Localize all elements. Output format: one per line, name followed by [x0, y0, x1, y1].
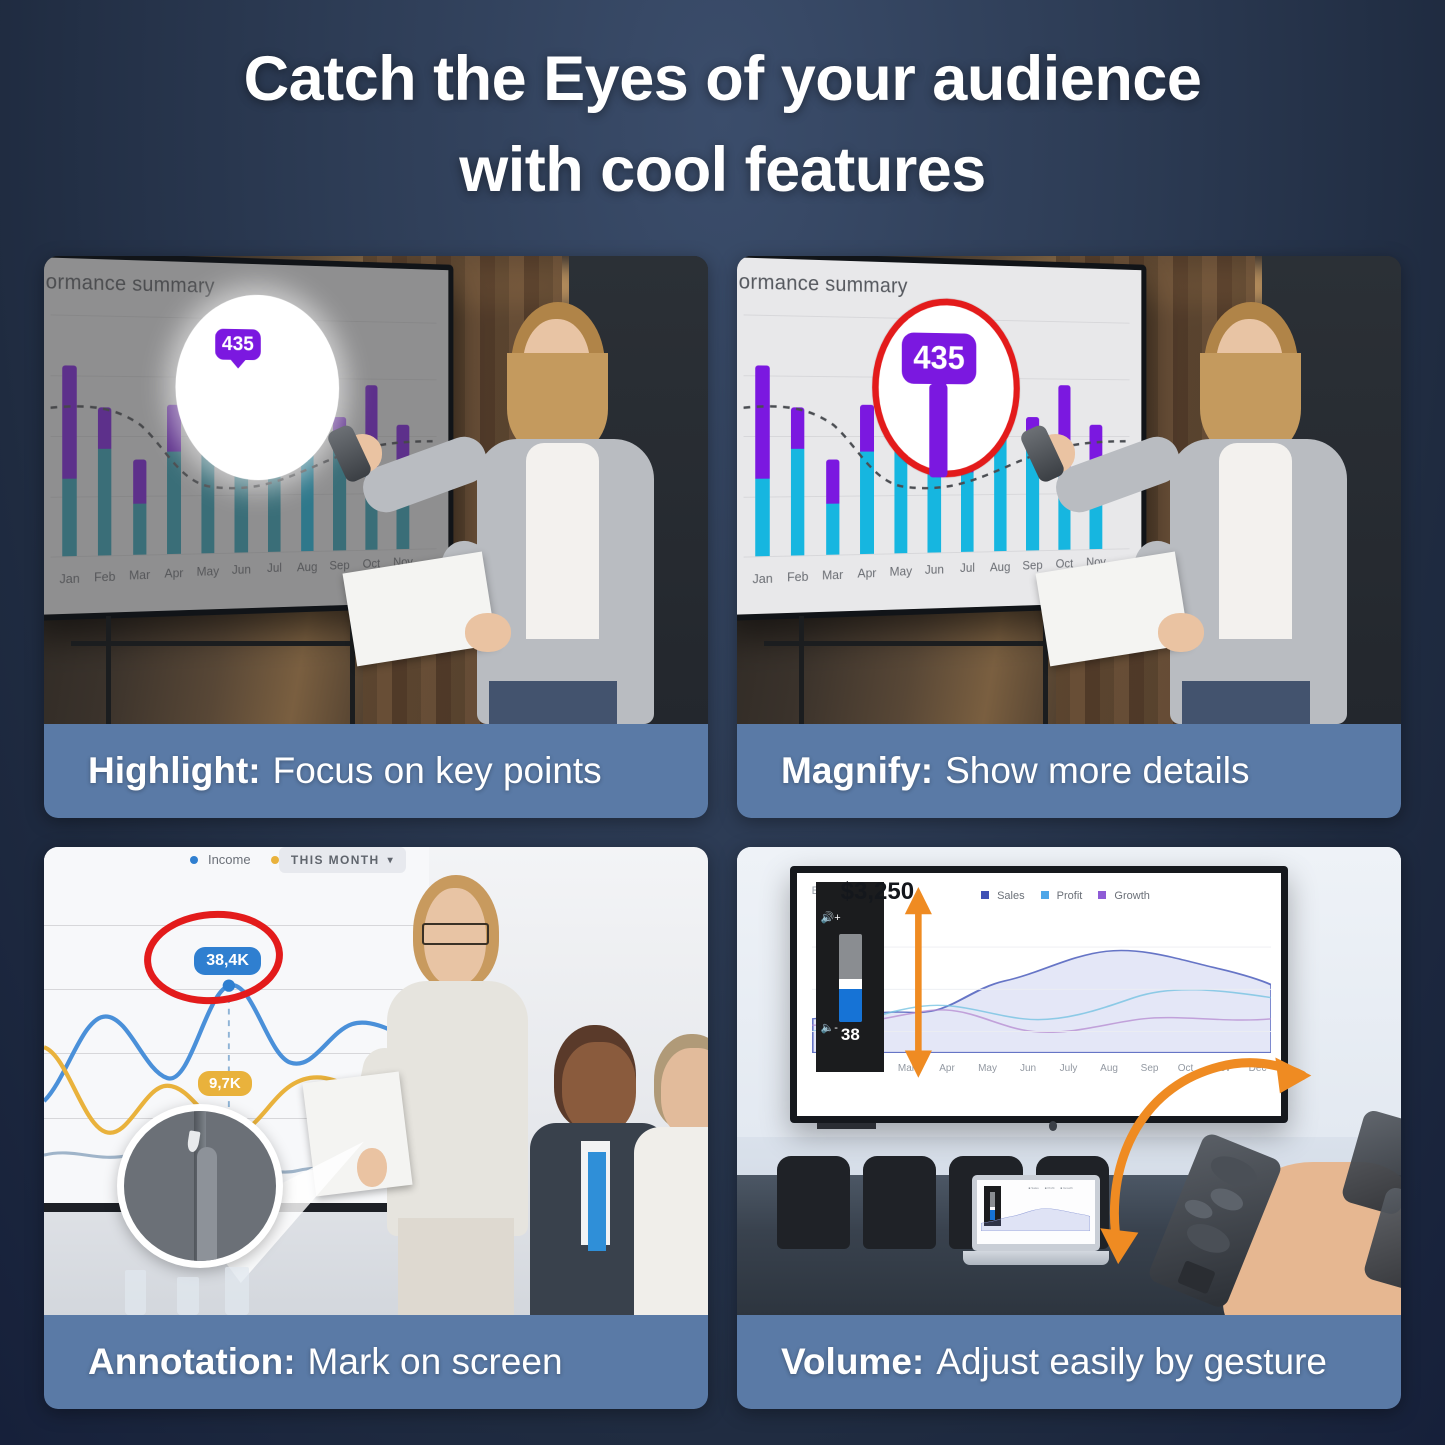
volume-photo: Earnings $3,250 Sales Profit Growth: [737, 847, 1401, 1315]
chart-legend-earnings: Sales Profit Growth: [981, 890, 1150, 902]
volume-caption: Volume: Adjust easily by gesture: [737, 1315, 1401, 1409]
chart-title: ormance summary: [45, 270, 214, 298]
legend-swatch-sales: [981, 891, 989, 899]
volume-level-value: 38: [841, 1025, 860, 1045]
feature-card-annotation[interactable]: Income Outcome THIS MONTH ▾: [44, 847, 708, 1409]
legend-item-sales: Sales: [981, 890, 1025, 902]
feature-card-magnify[interactable]: ormance summary: [737, 256, 1401, 818]
eyeglasses: [422, 923, 489, 945]
legend-item-profit: Profit: [1041, 890, 1083, 902]
magnify-photo: ormance summary: [737, 256, 1401, 724]
legend-label-growth: Growth: [1114, 890, 1149, 902]
table-glassware: [110, 1259, 349, 1315]
bar-jan-2: [755, 366, 769, 557]
feature-card-grid: ormance summary: [44, 256, 1401, 1409]
annotation-caption-title: Annotation:: [88, 1341, 296, 1383]
highlight-spotlight: [175, 293, 339, 481]
presenter-person: [416, 298, 708, 724]
annotation-caption: Annotation: Mark on screen: [44, 1315, 708, 1409]
annotation-photo: Income Outcome THIS MONTH ▾: [44, 847, 708, 1315]
remote-laser-button[interactable]: [1183, 1218, 1234, 1259]
speaker-plus-icon: 🔊+: [821, 911, 841, 924]
presenter-person-2: [1109, 298, 1401, 724]
audience-person-2: [642, 1034, 708, 1315]
headline-line-1: Catch the Eyes of your audience: [244, 44, 1202, 114]
highlight-caption-title: Highlight:: [88, 750, 261, 792]
display-speaker-bar: [817, 1123, 877, 1129]
annotation-caption-text: Mark on screen: [308, 1341, 563, 1383]
volume-slider-knob[interactable]: [839, 979, 862, 989]
bar-apr: [167, 405, 180, 555]
feature-card-volume[interactable]: Earnings $3,250 Sales Profit Growth: [737, 847, 1401, 1409]
speaker-minus-icon: 🔈-: [821, 1021, 838, 1034]
bar-mar: [132, 460, 146, 556]
bar-mar-2: [825, 460, 839, 556]
gesture-arrow-vertical: [899, 885, 938, 1080]
tv-screen: ormance summary: [44, 258, 448, 615]
value-tooltip-magnify: 435: [902, 332, 976, 385]
magnify-caption: Magnify: Show more details: [737, 724, 1401, 818]
page-headline: Catch the Eyes of your audience with coo…: [0, 0, 1445, 217]
legend-swatch-growth: [1098, 891, 1106, 899]
bar-feb-2: [791, 407, 805, 556]
tooltip-outcome-value: 9,7K: [198, 1071, 252, 1096]
remote-usb-receiver: [1177, 1260, 1215, 1294]
remote-down-button[interactable]: [1208, 1184, 1246, 1214]
legend-swatch-profit: [1041, 891, 1049, 899]
hand-with-remote: [1162, 1128, 1401, 1315]
remote-button-zoom-circle: [117, 1104, 283, 1268]
volume-osd-panel: 🔊+ 🔈- 38: [816, 882, 884, 1072]
highlight-photo: ormance summary: [44, 256, 708, 724]
highlight-caption: Highlight: Focus on key points: [44, 724, 708, 818]
remote-power-button[interactable]: [1207, 1150, 1262, 1192]
bar-apr-2: [860, 405, 873, 555]
tv-screen-2: ormance summary: [737, 258, 1141, 615]
legend-label-sales: Sales: [997, 890, 1025, 902]
legend-item-growth: Growth: [1098, 890, 1150, 902]
volume-caption-title: Volume:: [781, 1341, 924, 1383]
highlight-caption-text: Focus on key points: [273, 750, 602, 792]
magnified-bar: [929, 384, 948, 477]
bar-feb: [98, 407, 112, 556]
chair-1: [777, 1156, 850, 1250]
bar-jan: [62, 366, 76, 557]
chart-title-2: ormance summary: [738, 270, 907, 298]
magnify-caption-text: Show more details: [945, 750, 1249, 792]
legend-label-profit: Profit: [1057, 890, 1083, 902]
feature-card-highlight[interactable]: ormance summary: [44, 256, 708, 818]
value-tooltip-highlight: 435: [215, 329, 260, 361]
volume-slider-fill: [839, 989, 862, 1022]
magnify-caption-title: Magnify:: [781, 750, 933, 792]
chair-2: [863, 1156, 936, 1250]
volume-slider-track[interactable]: [839, 934, 862, 1022]
volume-caption-text: Adjust easily by gesture: [936, 1341, 1327, 1383]
headline-line-2: with cool features: [60, 125, 1385, 216]
remote-up-button[interactable]: [1183, 1196, 1215, 1221]
